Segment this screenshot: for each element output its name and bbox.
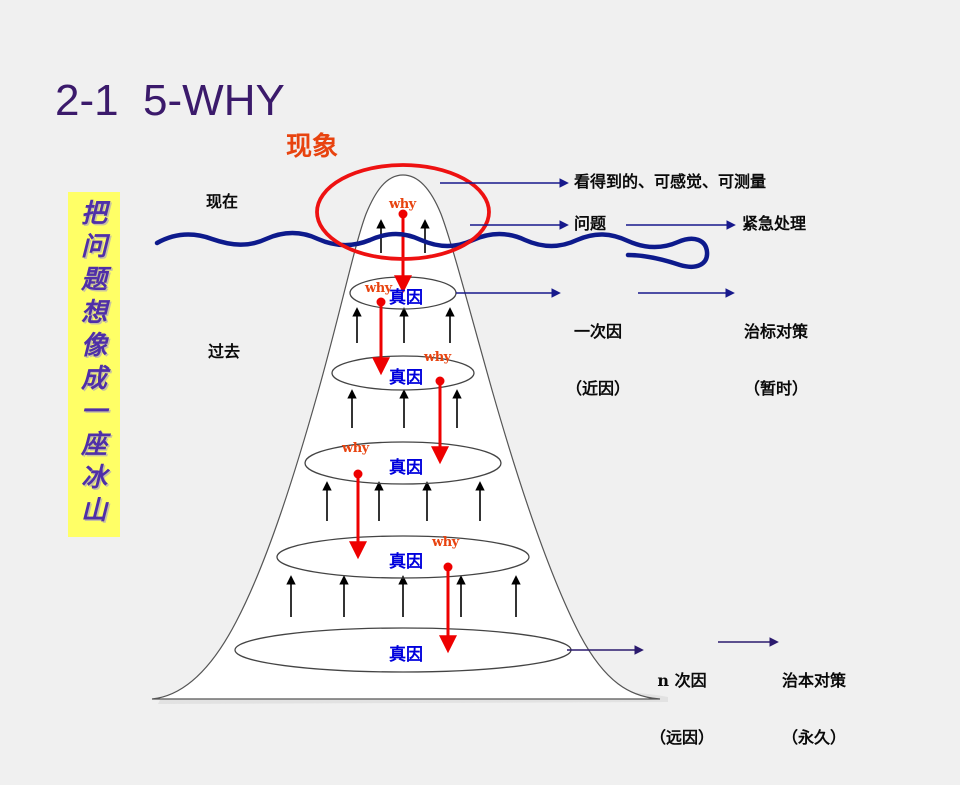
note-temporary-remedy-line1: 治标对策 xyxy=(744,322,808,341)
note-problem: 问题 xyxy=(574,214,606,233)
label-past: 过去 xyxy=(208,338,240,362)
note-first-cause: 一次因 （近因） xyxy=(566,284,630,436)
phenomenon-heading: 现象 xyxy=(286,126,338,163)
why-label-level4: why xyxy=(432,535,459,550)
note-permanent-remedy-line2: （永久） xyxy=(782,728,846,747)
note-nth-cause-line2: （远因） xyxy=(650,728,714,747)
metaphor-char: 题 xyxy=(81,264,107,297)
slide-canvas: 2-1 5-WHY 现象 现在 过去 把 问 题 想 像 成 一 座 冰 山 看… xyxy=(0,0,960,720)
note-nth-cause: n 次因 （远因） xyxy=(650,633,714,785)
root-cause-label-5: 真因 xyxy=(389,640,423,665)
iceberg-metaphor-box: 把 问 题 想 像 成 一 座 冰 山 xyxy=(68,192,120,537)
iceberg-shape xyxy=(152,175,660,699)
why-origin-dot xyxy=(436,377,445,386)
root-cause-label-4: 真因 xyxy=(389,547,423,572)
metaphor-char: 把 xyxy=(81,198,107,231)
metaphor-char: 座 xyxy=(81,429,107,462)
why-label-level2: why xyxy=(424,350,451,365)
root-cause-label-3: 真因 xyxy=(389,453,423,478)
note-first-cause-line2: （近因） xyxy=(566,379,630,398)
metaphor-char: 冰 xyxy=(81,462,107,495)
page-title: 2-1 5-WHY xyxy=(55,76,285,126)
root-cause-label-2: 真因 xyxy=(389,363,423,388)
metaphor-char: 像 xyxy=(81,330,107,363)
note-urgent-action: 紧急处理 xyxy=(742,214,806,233)
metaphor-char: 问 xyxy=(81,231,107,264)
why-label-peak: why xyxy=(389,197,416,212)
why-origin-dot xyxy=(354,470,363,479)
why-origin-dot xyxy=(377,298,386,307)
note-nth-cause-line1: n 次因 xyxy=(650,671,714,690)
why-label-level3: why xyxy=(342,441,369,456)
note-permanent-remedy: 治本对策 （永久） xyxy=(782,633,846,785)
metaphor-char: 一 xyxy=(81,396,107,429)
label-now: 现在 xyxy=(206,188,238,212)
note-permanent-remedy-line1: 治本对策 xyxy=(782,671,846,690)
why-label-level1: why xyxy=(365,281,392,296)
note-temporary-remedy: 治标对策 （暂时） xyxy=(744,284,808,436)
root-cause-label-1: 真因 xyxy=(389,283,423,308)
metaphor-char: 山 xyxy=(81,495,107,528)
note-temporary-remedy-line2: （暂时） xyxy=(744,379,808,398)
note-first-cause-line1: 一次因 xyxy=(566,322,630,341)
why-origin-dot xyxy=(444,563,453,572)
metaphor-char: 成 xyxy=(81,363,107,396)
metaphor-char: 想 xyxy=(81,297,107,330)
note-visible-measurable: 看得到的、可感觉、可测量 xyxy=(574,172,766,191)
